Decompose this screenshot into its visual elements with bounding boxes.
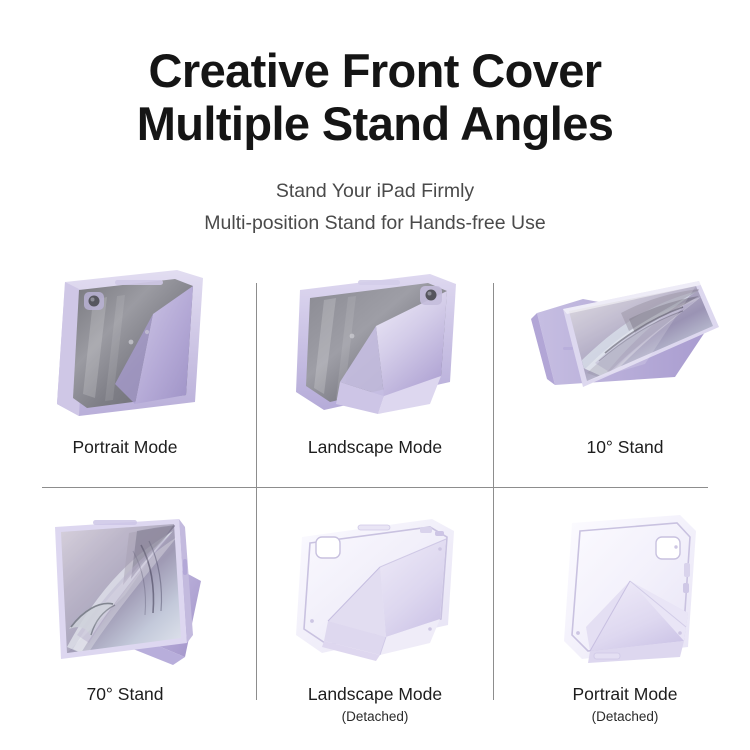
- ipad-case-portrait-back-view-icon: [0, 258, 250, 430]
- caption-text: 70° Stand: [86, 684, 163, 704]
- cell-caption: Landscape Mode: [308, 436, 442, 458]
- subtitle-line-1: Stand Your iPad Firmly: [0, 176, 750, 208]
- cell-caption: Portrait Mode: [72, 436, 177, 458]
- grid-cell-portrait-mode: Portrait Mode: [0, 258, 250, 487]
- cell-caption: 10° Stand: [586, 436, 663, 458]
- subtitle-line-2: Multi-position Stand for Hands-free Use: [0, 208, 750, 240]
- caption-detail: (Detached): [572, 708, 677, 725]
- caption-text: Portrait Mode: [572, 684, 677, 704]
- ipad-case-low-angle-stand-icon: [500, 258, 750, 430]
- grid-cell-10-degree-stand: 10° Stand: [500, 258, 750, 487]
- ipad-case-detached-landscape-icon: [250, 501, 500, 677]
- caption-text: 10° Stand: [586, 437, 663, 457]
- grid-row-bottom: 70° Stand: [0, 501, 750, 741]
- grid-cell-landscape-mode: Landscape Mode: [250, 258, 500, 487]
- cell-caption: 70° Stand: [86, 683, 163, 705]
- caption-detail: (Detached): [308, 708, 442, 725]
- grid-cell-portrait-detached: Portrait Mode (Detached): [500, 501, 750, 741]
- caption-text: Landscape Mode: [308, 437, 442, 457]
- headline-line-2: Multiple Stand Angles: [0, 97, 750, 150]
- grid-row-top: Portrait Mode: [0, 258, 750, 487]
- ipad-case-landscape-back-view-icon: [250, 258, 500, 430]
- cell-caption: Landscape Mode (Detached): [308, 683, 442, 726]
- ipad-case-detached-portrait-icon: [500, 501, 750, 677]
- headline-line-1: Creative Front Cover: [0, 44, 750, 97]
- grid-divider-horizontal: [42, 487, 708, 488]
- caption-text: Landscape Mode: [308, 684, 442, 704]
- ipad-case-upright-stand-icon: [0, 501, 250, 677]
- page-title: Creative Front Cover Multiple Stand Angl…: [0, 44, 750, 150]
- cell-caption: Portrait Mode (Detached): [572, 683, 677, 726]
- header: Creative Front Cover Multiple Stand Angl…: [0, 0, 750, 239]
- page-subtitle: Stand Your iPad Firmly Multi-position St…: [0, 176, 750, 239]
- grid-cell-landscape-detached: Landscape Mode (Detached): [250, 501, 500, 741]
- stand-modes-grid: Portrait Mode: [0, 258, 750, 750]
- grid-cell-70-degree-stand: 70° Stand: [0, 501, 250, 741]
- caption-text: Portrait Mode: [72, 437, 177, 457]
